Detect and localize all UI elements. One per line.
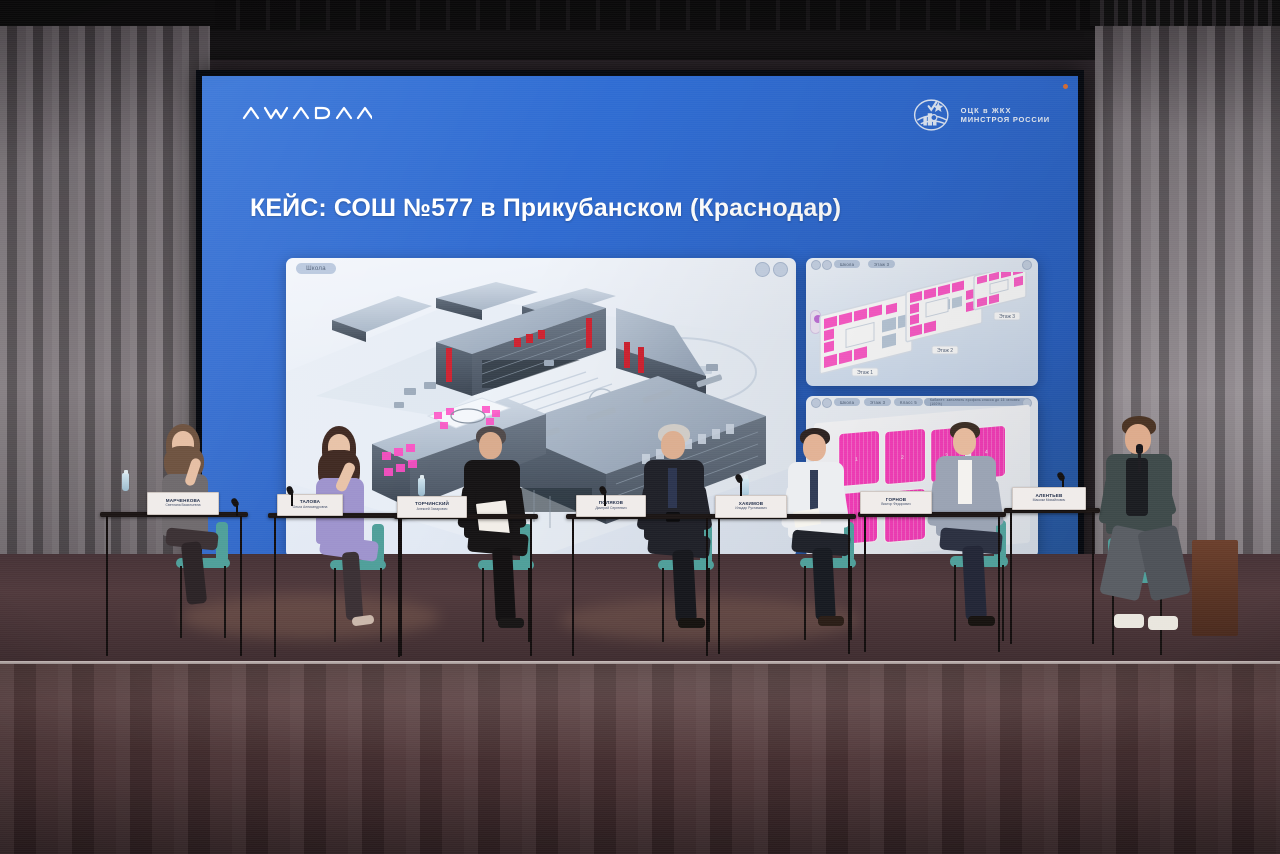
necktie: [810, 470, 818, 512]
nameplate-first-name: Виктор Федорович: [881, 503, 910, 507]
curtain-rail-left: [0, 0, 215, 26]
rooms-chip-floor[interactable]: Этаж 3: [864, 398, 891, 406]
plan-label-floor-1: Этаж 1: [857, 370, 873, 376]
nameplate-7: АЛЕНТЬЕВ Максим Михайлович: [1012, 487, 1086, 510]
rooms-breadcrumb-note[interactable]: Кабинет: заполнить профиль класса до 15 …: [924, 398, 1028, 406]
stage-skirt-sheen: [0, 664, 1280, 854]
panelist-person: [928, 422, 1018, 676]
tshirt: [1126, 458, 1148, 516]
rooms-chip-school[interactable]: Школа: [834, 398, 860, 406]
floor-plans-isometric[interactable]: Этаж 1 Этаж: [806, 272, 1038, 386]
plans-chip-floor[interactable]: Этаж 3: [868, 260, 895, 268]
conference-stage-photo: ОЦК в ЖКХ МИНСТРОЯ РОССИИ КЕЙС: СОШ №577…: [0, 0, 1280, 854]
rooms-home-icon[interactable]: [822, 398, 832, 408]
nameplate-3: ТОРЧИНСКИЙ Алексей Захарович: [397, 496, 467, 518]
wooden-podium: [1192, 540, 1238, 636]
projector-status-dot: [1063, 84, 1068, 89]
nameplate-1: МАРЧЕНКОВА Светлана Васильевна: [147, 492, 219, 515]
nameplate-first-name: Ольга Александровна: [293, 506, 328, 510]
lock-icon[interactable]: [773, 262, 788, 277]
plans-chip-school[interactable]: Школа: [834, 260, 860, 268]
panelist-person: [306, 426, 390, 676]
panelist-person: [638, 424, 726, 676]
nameplate-first-name: Дмитрий Сергеевич: [595, 507, 626, 511]
bim-chip-school[interactable]: Школа: [296, 263, 336, 274]
nameplate-first-name: Алексей Захарович: [417, 508, 448, 512]
home-icon[interactable]: [822, 260, 832, 270]
nameplate-5: ХАКИМОВ Ильдар Рустамович: [715, 495, 787, 518]
nameplate-first-name: Светлана Васильевна: [166, 504, 201, 508]
close-icon[interactable]: [1022, 260, 1032, 270]
bim-toolbar: Школа: [286, 258, 796, 278]
room-label: 2: [901, 455, 904, 461]
awada-chevron-logo-icon: [242, 102, 372, 124]
plan-label-floor-2: Этаж 2: [937, 348, 953, 354]
rooms-chip-class[interactable]: Класс 5: [894, 398, 923, 406]
nameplate-4: ПОЛЯКОВ Дмитрий Сергеевич: [576, 495, 646, 517]
rooms-back-icon[interactable]: [811, 398, 821, 408]
water-bottle: [418, 478, 425, 496]
awada-logo: [242, 102, 372, 124]
slide-title: КЕЙС: СОШ №577 в Прикубанском (Краснодар…: [250, 194, 841, 223]
ock-zhkh-emblem-icon: [912, 94, 954, 136]
back-icon[interactable]: [811, 260, 821, 270]
ministry-line-1: ОЦК в ЖКХ: [961, 106, 1050, 115]
water-bottle: [122, 473, 129, 491]
share-icon[interactable]: [755, 262, 770, 277]
plan-label-floor-3: Этаж 3: [999, 314, 1015, 320]
panelist-person: [780, 428, 866, 676]
water-bottle: [742, 478, 749, 496]
nameplate-6: ГОРНОВ Виктор Федорович: [860, 491, 932, 514]
nameplate-2: ТАЛОВА Ольга Александровна: [277, 494, 343, 516]
curtain-rail-right: [1090, 0, 1280, 26]
speaker-person: [1100, 416, 1196, 682]
necktie: [668, 468, 677, 508]
ministry-logo: ОЦК в ЖКХ МИНСТРОЯ РОССИИ: [912, 94, 1050, 136]
nameplate-first-name: Ильдар Рустамович: [735, 507, 767, 511]
nameplate-first-name: Максим Михайлович: [1033, 499, 1066, 503]
ministry-line-2: МИНСТРОЯ РОССИИ: [961, 115, 1050, 124]
dress-shirt: [958, 460, 972, 504]
room-cell[interactable]: 2: [884, 428, 926, 486]
plans-toolbar: Школа Этаж 3: [806, 258, 1038, 272]
panelist-person: [150, 424, 230, 664]
app-shot-floor-plans: Школа Этаж 3: [806, 258, 1038, 386]
